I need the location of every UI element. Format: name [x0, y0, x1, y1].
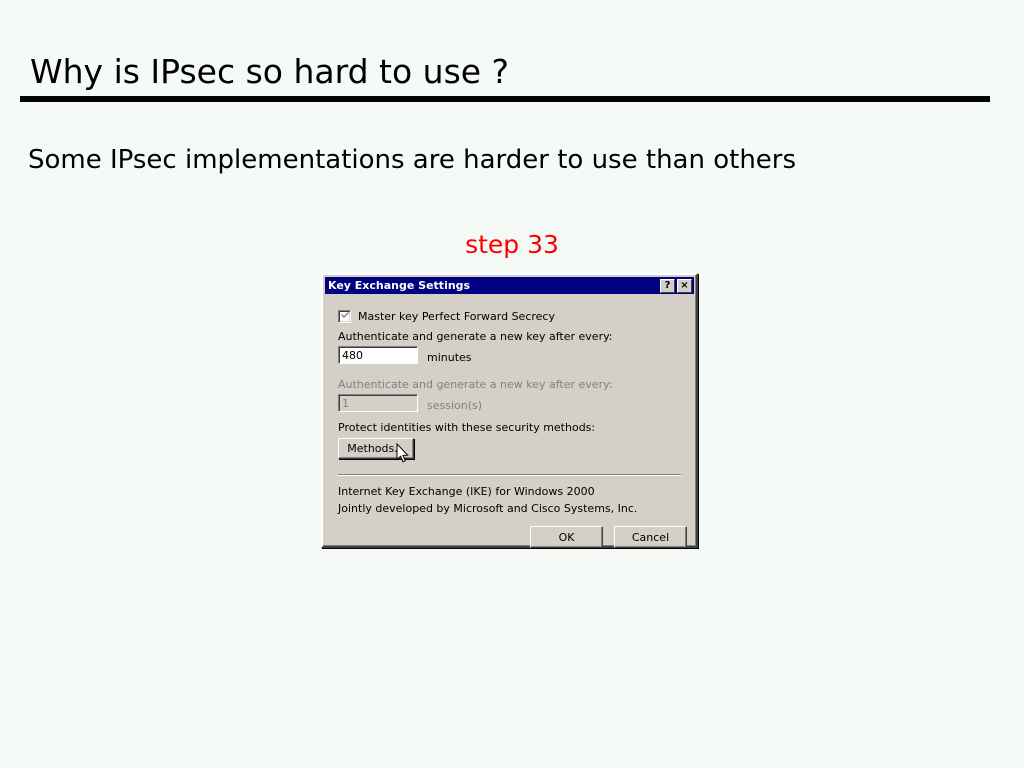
methods-button[interactable]: Methods...	[338, 438, 414, 459]
checkbox-icon[interactable]	[338, 310, 351, 323]
authenticate-minutes-label: Authenticate and generate a new key afte…	[338, 330, 613, 343]
page-title: Why is IPsec so hard to use ?	[30, 52, 509, 91]
master-key-pfs-checkbox-row[interactable]: Master key Perfect Forward Secrecy	[338, 310, 555, 323]
slide-body-text: Some IPsec implementations are harder to…	[28, 145, 796, 175]
dialog-titlebar[interactable]: Key Exchange Settings ? ×	[325, 277, 694, 294]
title-divider-rule	[20, 96, 990, 102]
section-divider	[338, 474, 681, 476]
ike-info-line-1: Internet Key Exchange (IKE) for Windows …	[338, 485, 595, 498]
minutes-input[interactable]: 480	[338, 346, 418, 364]
minutes-unit-label: minutes	[427, 351, 472, 364]
authenticate-sessions-label: Authenticate and generate a new key afte…	[338, 378, 613, 391]
ok-button[interactable]: OK	[530, 526, 603, 548]
help-icon[interactable]: ?	[660, 279, 675, 293]
cancel-button[interactable]: Cancel	[614, 526, 687, 548]
key-exchange-settings-dialog: Key Exchange Settings ? × Master key Per…	[321, 273, 698, 548]
protect-identities-label: Protect identities with these security m…	[338, 421, 595, 434]
dialog-content: Master key Perfect Forward Secrecy Authe…	[325, 294, 694, 544]
step-caption: step 33	[0, 230, 1024, 259]
ike-info-line-2: Jointly developed by Microsoft and Cisco…	[338, 502, 637, 515]
master-key-pfs-label: Master key Perfect Forward Secrecy	[358, 310, 555, 323]
sessions-unit-label: session(s)	[427, 399, 482, 412]
checkmark-icon	[341, 311, 349, 319]
close-icon[interactable]: ×	[677, 279, 692, 293]
sessions-input: 1	[338, 394, 418, 412]
dialog-title-text: Key Exchange Settings	[328, 277, 658, 294]
